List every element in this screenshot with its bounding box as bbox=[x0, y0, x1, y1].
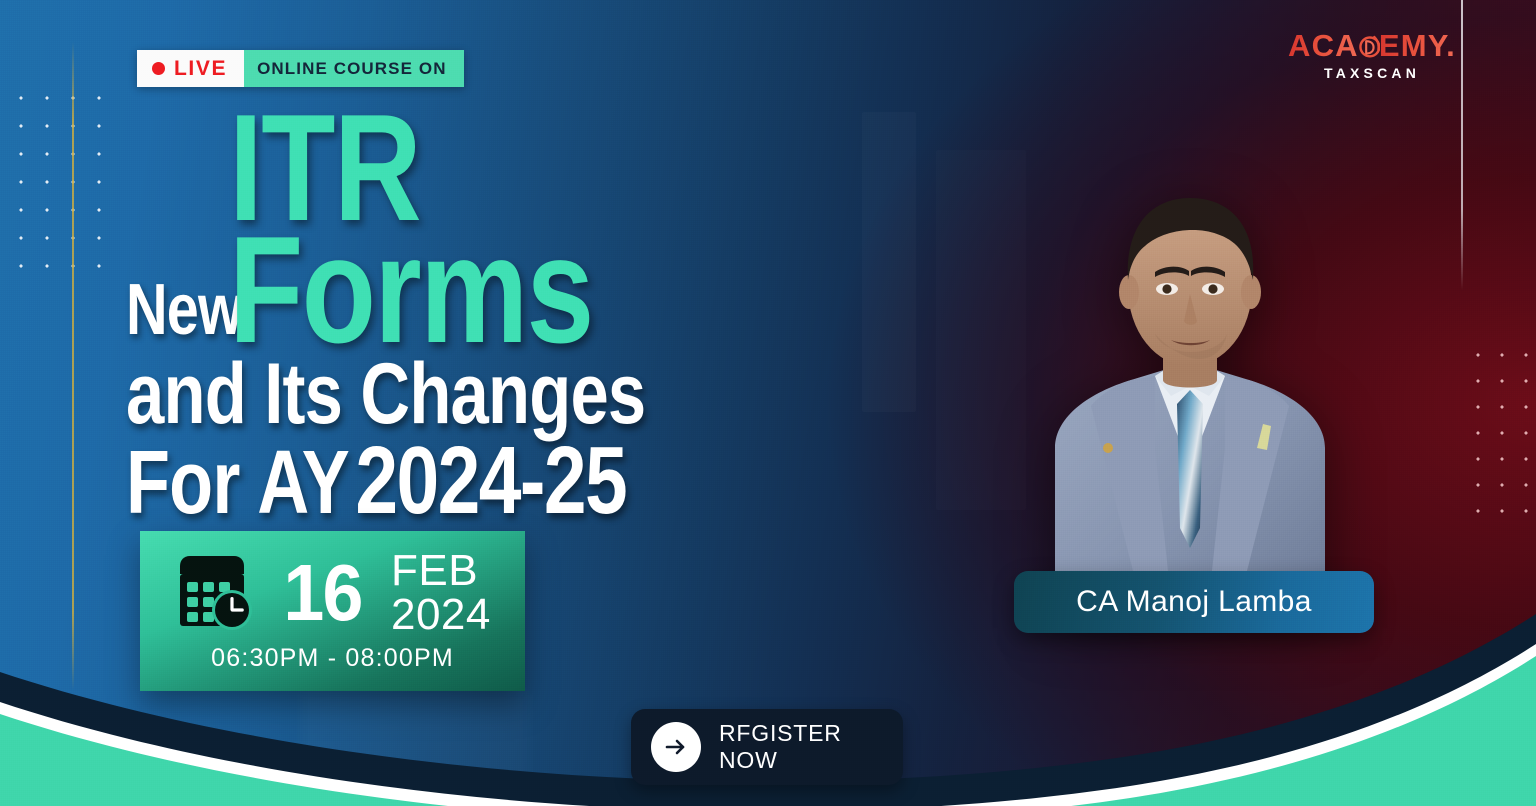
title-line-3: For AY 2024-25 bbox=[126, 437, 734, 525]
title-word-new: New bbox=[126, 282, 242, 352]
academy-taxscan-logo[interactable]: ACA EMY. TAXSCAN bbox=[1288, 28, 1456, 81]
title-line-2: and Its Changes bbox=[126, 357, 734, 433]
title-line-1: New ITR Forms bbox=[126, 108, 886, 351]
title-word-year: 2024-25 bbox=[355, 437, 626, 525]
logo-word-left: ACA bbox=[1288, 28, 1359, 64]
page-title: New ITR Forms and Its Changes For AY 202… bbox=[126, 108, 886, 525]
live-badge-left: LIVE bbox=[137, 50, 244, 87]
register-now-label: RFGISTER NOW bbox=[719, 720, 903, 774]
logo-d-monogram-icon bbox=[1358, 31, 1380, 62]
online-course-label: ONLINE COURSE ON bbox=[244, 50, 464, 87]
dot-grid-left-decoration bbox=[0, 84, 108, 292]
logo-subtitle: TAXSCAN bbox=[1288, 65, 1456, 81]
arrow-right-icon bbox=[651, 722, 701, 772]
live-label: LIVE bbox=[174, 57, 227, 81]
live-dot-icon bbox=[152, 62, 165, 75]
speaker-photo bbox=[995, 148, 1385, 618]
vertical-rule-right bbox=[1461, 0, 1463, 290]
title-word-for: For bbox=[126, 442, 240, 525]
speaker-portrait-illustration bbox=[995, 148, 1385, 618]
logo-wordmark: ACA EMY. bbox=[1288, 28, 1456, 64]
vertical-rule-left bbox=[72, 42, 74, 690]
title-word-ay: AY bbox=[257, 442, 349, 525]
event-month: FEB bbox=[391, 549, 491, 593]
dot-grid-right-decoration bbox=[1466, 342, 1536, 514]
logo-word-right: EMY. bbox=[1379, 28, 1456, 64]
title-word-itr-forms: ITR Forms bbox=[229, 108, 755, 351]
live-course-badge: LIVE ONLINE COURSE ON bbox=[137, 50, 464, 87]
webinar-banner: LIVE ONLINE COURSE ON New ITR Forms and … bbox=[0, 0, 1536, 806]
register-now-button[interactable]: RFGISTER NOW bbox=[631, 709, 903, 785]
